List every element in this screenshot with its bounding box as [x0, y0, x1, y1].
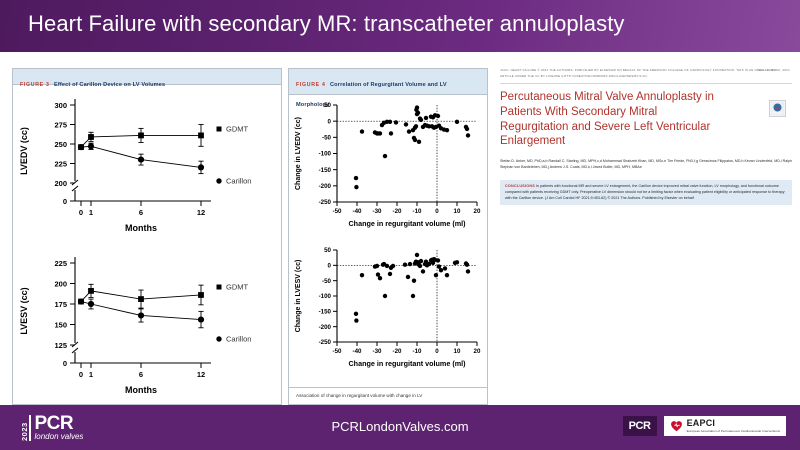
article-thumbnail-icon	[769, 100, 786, 117]
svg-text:-100: -100	[319, 293, 332, 300]
journal-divider	[500, 83, 792, 84]
svg-text:Change in regurgitant volume (: Change in regurgitant volume (ml)	[348, 359, 466, 368]
svg-text:12: 12	[197, 370, 205, 379]
svg-text:20: 20	[474, 348, 481, 355]
svg-text:-250: -250	[319, 339, 332, 346]
svg-text:250: 250	[54, 140, 67, 149]
svg-text:0: 0	[435, 208, 439, 215]
svg-text:125: 125	[54, 341, 67, 350]
svg-text:-20: -20	[393, 348, 403, 355]
eapci-badge: EAPCI European Association of Percutaneo…	[664, 416, 786, 436]
svg-text:-20: -20	[393, 208, 403, 215]
figure3-number: FIGURE 3	[20, 82, 50, 88]
svg-text:-50: -50	[322, 135, 332, 142]
conclusions-text: In patients with functional MR and sever…	[505, 184, 785, 200]
svg-text:-150: -150	[319, 309, 332, 316]
svg-text:Months: Months	[125, 385, 157, 395]
figure4-header: FIGURE 4 Correlation of Regurgitant Volu…	[289, 69, 487, 95]
svg-text:-100: -100	[319, 151, 332, 158]
svg-text:-40: -40	[353, 348, 363, 355]
article-authors: Stefan D. Anker, MD, PhD,a,b Randall C. …	[500, 158, 792, 170]
figure4-number: FIGURE 4	[296, 82, 326, 88]
svg-text:6: 6	[139, 370, 143, 379]
figure4-panel: FIGURE 4 Correlation of Regurgitant Volu…	[288, 68, 488, 405]
eapci-name: EAPCI	[687, 419, 780, 428]
svg-text:10: 10	[454, 208, 461, 215]
svg-text:0: 0	[435, 348, 439, 355]
svg-text:-50: -50	[333, 208, 343, 215]
svg-text:50: 50	[324, 102, 331, 109]
svg-text:200: 200	[54, 179, 67, 188]
article-conclusions: CONCLUSIONS In patients with functional …	[500, 180, 792, 206]
svg-text:0: 0	[63, 197, 67, 206]
svg-text:GDMT: GDMT	[226, 125, 248, 134]
svg-text:-10: -10	[413, 348, 423, 355]
svg-text:Carillon: Carillon	[226, 335, 251, 344]
svg-text:12: 12	[197, 208, 205, 217]
journal-masthead: JACC: HEART FAILURE © 2021 THE AUTHORS. …	[500, 68, 792, 79]
svg-text:150: 150	[54, 320, 67, 329]
slide-content: FIGURE 3 Effect of Carillon Device on LV…	[0, 52, 800, 405]
svg-text:275: 275	[54, 120, 67, 129]
svg-text:Months: Months	[125, 223, 157, 233]
svg-text:1: 1	[89, 208, 93, 217]
svg-text:225: 225	[54, 259, 67, 268]
svg-text:LVEDV (cc): LVEDV (cc)	[19, 127, 29, 175]
svg-text:10: 10	[454, 348, 461, 355]
svg-text:6: 6	[139, 208, 143, 217]
heart-icon	[670, 420, 683, 432]
figure3-title: Effect of Carillon Device on LV Volumes	[54, 82, 165, 88]
svg-text:225: 225	[54, 159, 67, 168]
svg-text:-30: -30	[373, 208, 383, 215]
eapci-subtitle: European Association of Percutaneous Car…	[687, 430, 780, 433]
pcr-badge: PCR	[623, 416, 657, 436]
svg-text:GDMT: GDMT	[226, 283, 248, 292]
figure4-caption: Association of change in regurgitant vol…	[289, 387, 487, 404]
svg-text:Carillon: Carillon	[226, 177, 251, 186]
svg-text:175: 175	[54, 300, 67, 309]
article-title: Percutaneous Mitral Valve Annuloplasty i…	[500, 90, 725, 149]
svg-text:0: 0	[79, 370, 83, 379]
page-title: Heart Failure with secondary MR: transca…	[28, 11, 625, 37]
svg-text:-200: -200	[319, 324, 332, 331]
svg-text:300: 300	[54, 101, 67, 110]
svg-text:-200: -200	[319, 183, 332, 190]
slide-title-bar: Heart Failure with secondary MR: transca…	[0, 0, 800, 52]
svg-text:20: 20	[474, 208, 481, 215]
chart-lvedv: 200225250275300001612MonthsLVEDV (cc)GDM…	[13, 85, 281, 243]
svg-text:200: 200	[54, 279, 67, 288]
figure3-panel: FIGURE 3 Effect of Carillon Device on LV…	[12, 68, 282, 405]
svg-text:LVESV (cc): LVESV (cc)	[19, 287, 29, 334]
footer-badges: PCR EAPCI European Association of Percut…	[623, 416, 786, 436]
svg-text:-150: -150	[319, 167, 332, 174]
svg-text:1: 1	[89, 370, 93, 379]
svg-text:0: 0	[328, 263, 332, 270]
conclusions-label: CONCLUSIONS	[505, 184, 535, 188]
svg-text:50: 50	[324, 247, 331, 254]
figure3-header: FIGURE 3 Effect of Carillon Device on LV…	[13, 69, 281, 85]
svg-text:-10: -10	[413, 208, 423, 215]
svg-text:Change in LVESV (cc): Change in LVESV (cc)	[295, 260, 302, 333]
svg-text:0: 0	[63, 359, 67, 368]
chart-lvesv: 125150175200225001612MonthsLVESV (cc)GDM…	[13, 243, 281, 405]
svg-text:Change in regurgitant volume (: Change in regurgitant volume (ml)	[348, 219, 466, 228]
chart-scatter-lvesv: -250-200-150-100-50050-50-40-30-20-10010…	[289, 240, 487, 380]
journal-article: VOL. 9, NO. 6, 2021 JACC: HEART FAILURE …	[500, 68, 792, 293]
chart-scatter-lvedv: -250-200-150-100-50050-50-40-30-20-10010…	[289, 95, 487, 240]
slide-footer: 2023 PCR london valves PCRLondonValves.c…	[0, 405, 800, 450]
svg-text:Change in LVEDV (cc): Change in LVEDV (cc)	[295, 117, 302, 190]
svg-text:-50: -50	[322, 278, 332, 285]
svg-text:-40: -40	[353, 208, 363, 215]
svg-text:-30: -30	[373, 348, 383, 355]
svg-text:-50: -50	[333, 348, 343, 355]
svg-text:0: 0	[79, 208, 83, 217]
svg-text:0: 0	[328, 118, 332, 125]
journal-volume: VOL. 9, NO. 6, 2021	[758, 68, 790, 72]
svg-text:-250: -250	[319, 199, 332, 206]
